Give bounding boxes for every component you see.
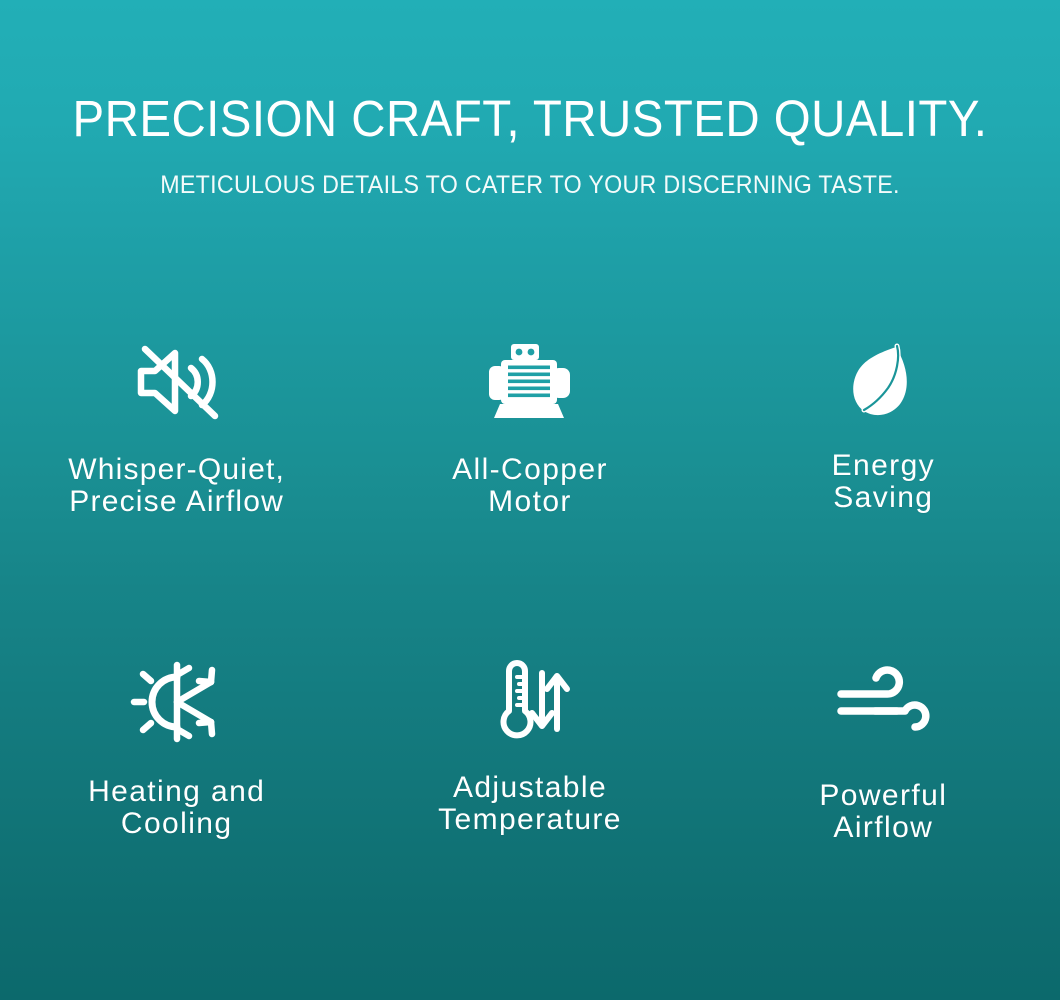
feature-grid: Whisper-Quiet, Precise Airflow (0, 318, 1060, 954)
feature-item-all-copper-motor: All-Copper Motor (353, 318, 706, 636)
feature-item-heating-cooling: Heating and Cooling (0, 636, 353, 954)
feature-label: Heating and Cooling (88, 776, 265, 840)
wind-icon (835, 654, 931, 750)
feature-item-adjustable-temperature: Adjustable Temperature (353, 636, 706, 954)
page-title: PRECISION CRAFT, TRUSTED QUALITY. (37, 92, 1023, 146)
feature-item-whisper-quiet: Whisper-Quiet, Precise Airflow (0, 318, 353, 636)
feature-banner: PRECISION CRAFT, TRUSTED QUALITY. METICU… (0, 0, 1060, 1000)
thermometer-arrows-icon (487, 654, 573, 746)
mute-speaker-icon (131, 336, 223, 428)
feature-label: All-Copper Motor (452, 454, 608, 518)
feature-item-powerful-airflow: Powerful Airflow (707, 636, 1060, 954)
feature-label: Whisper-Quiet, Precise Airflow (68, 454, 285, 518)
feature-item-energy-saving: Energy Saving (707, 318, 1060, 636)
leaf-icon (844, 336, 922, 428)
page-subtitle: METICULOUS DETAILS TO CATER TO YOUR DISC… (37, 172, 1023, 200)
feature-label: Powerful Airflow (819, 780, 947, 844)
feature-label: Energy Saving (832, 450, 935, 514)
electric-motor-icon (484, 336, 576, 428)
sun-snowflake-icon (131, 654, 223, 750)
feature-label: Adjustable Temperature (438, 772, 622, 836)
banner-header: PRECISION CRAFT, TRUSTED QUALITY. METICU… (0, 92, 1060, 199)
